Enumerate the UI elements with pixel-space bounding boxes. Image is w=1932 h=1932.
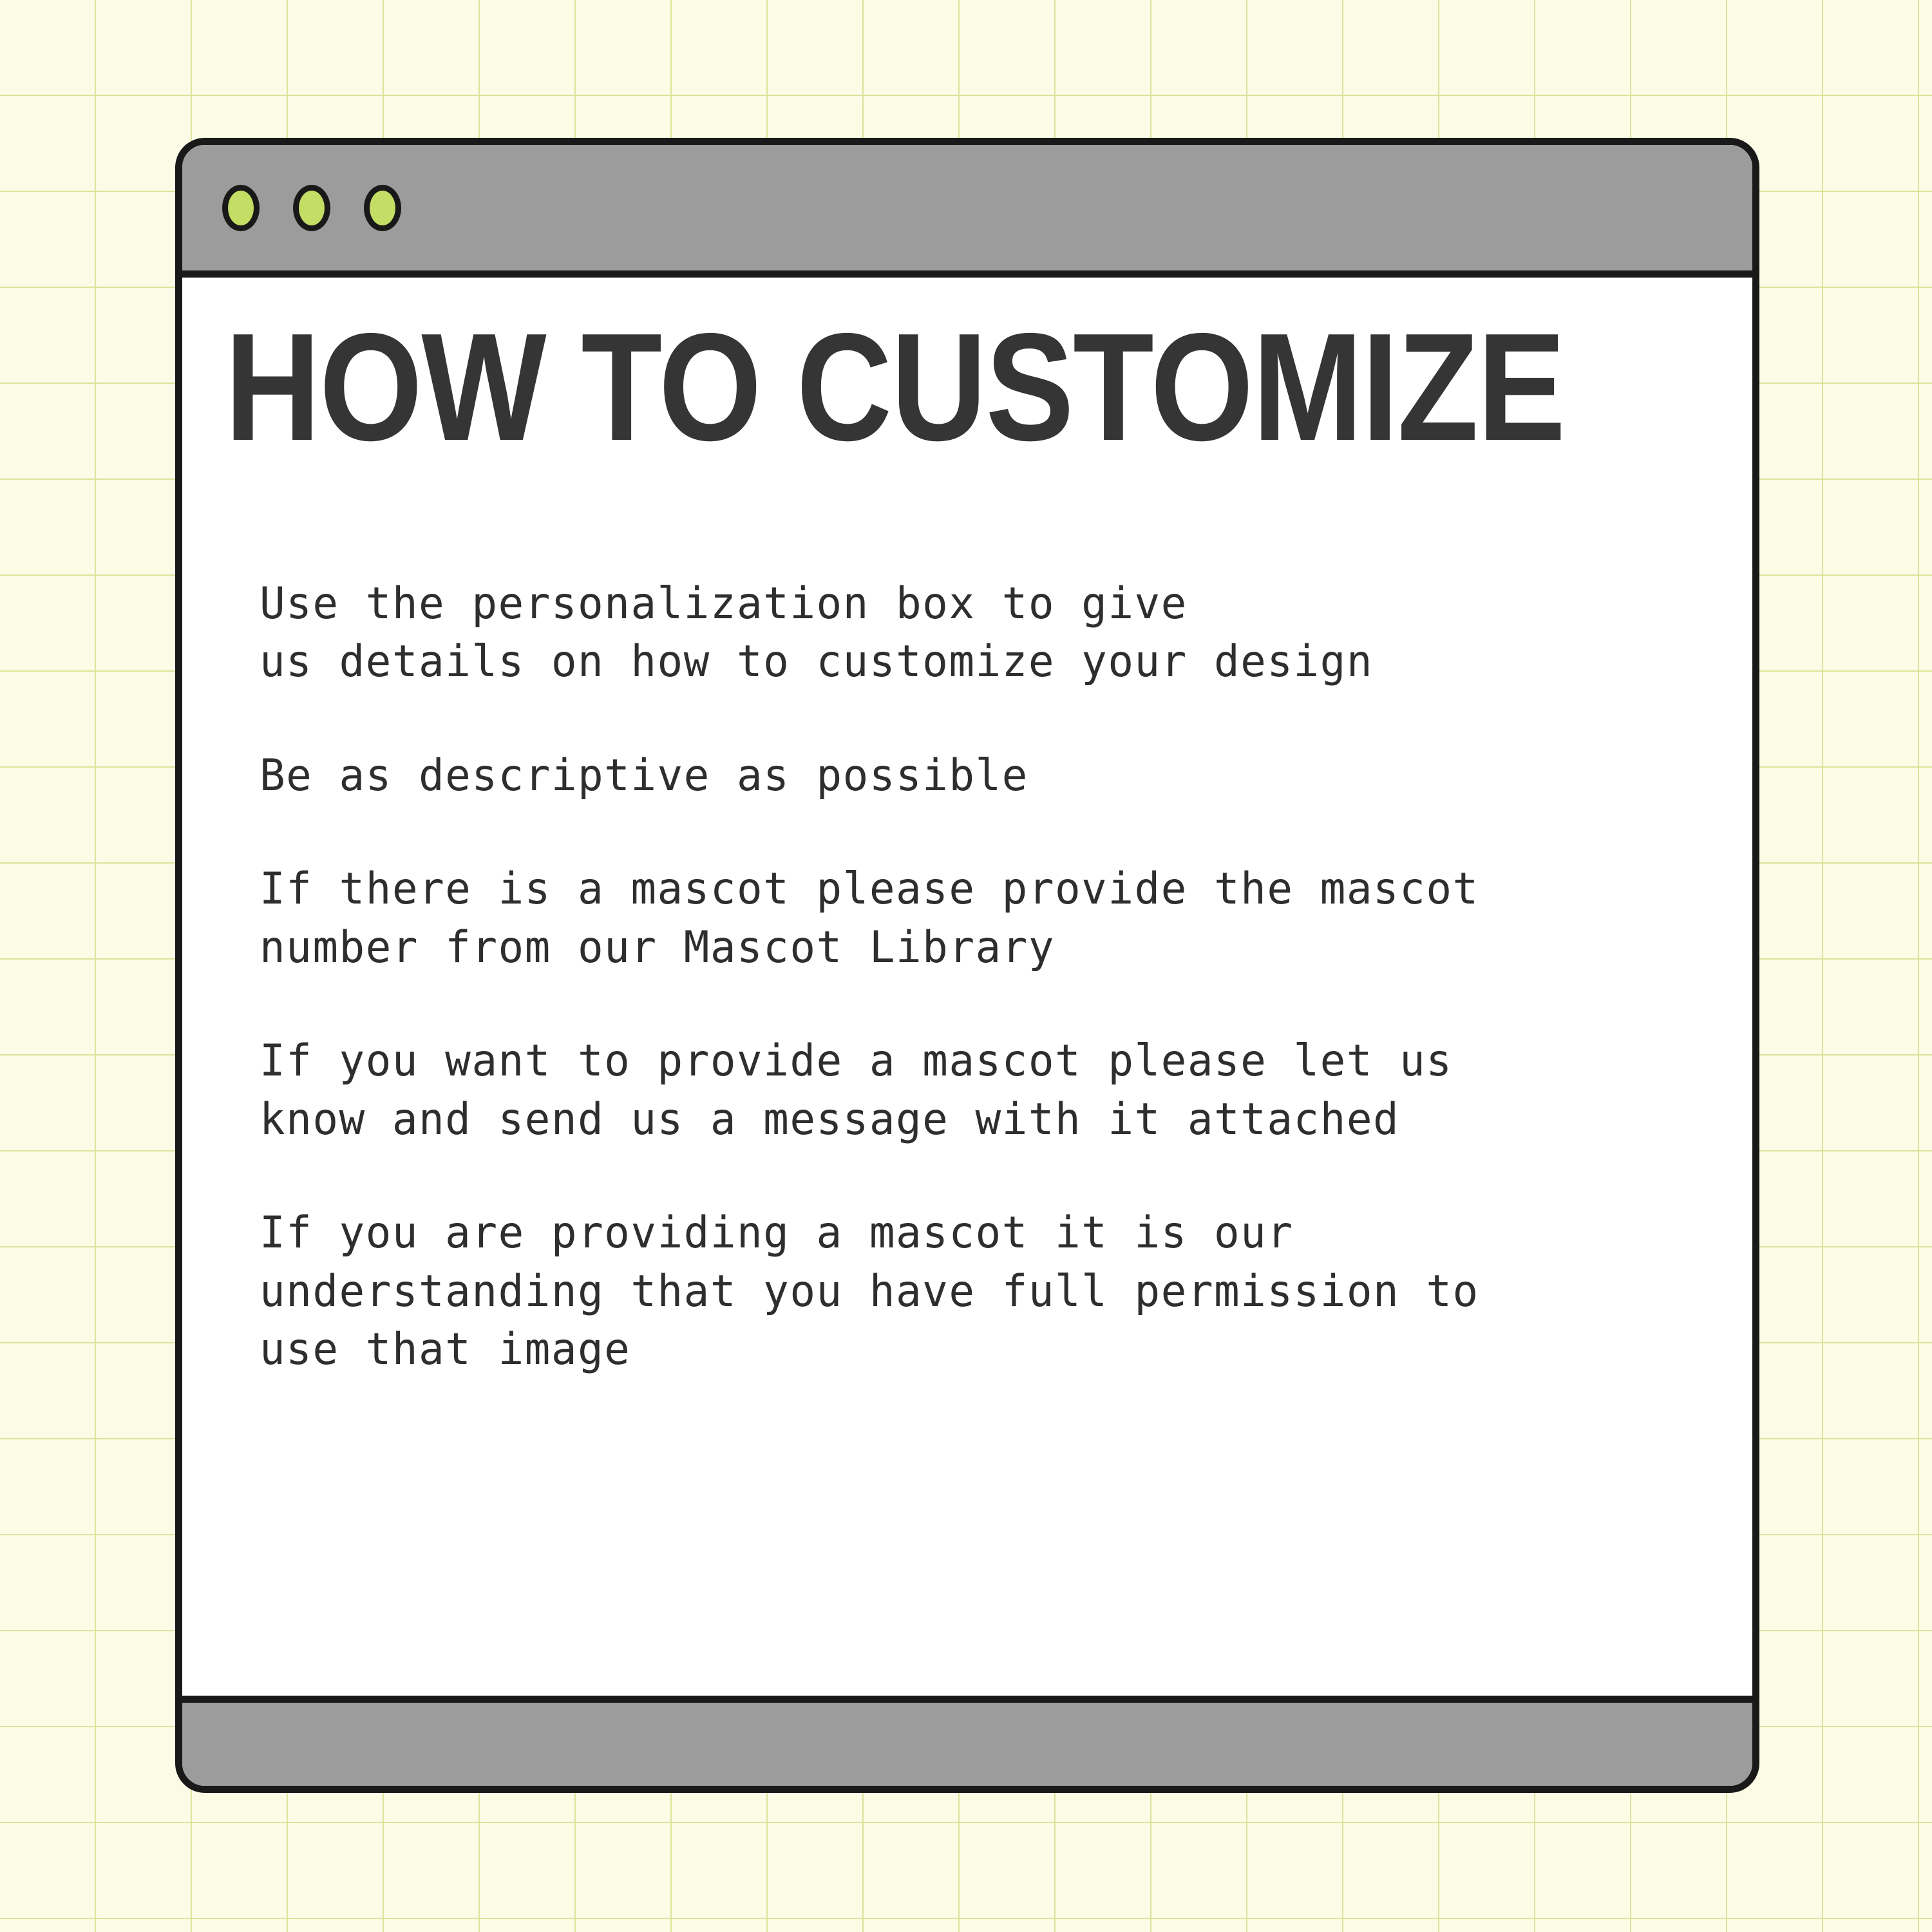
- instructions-list: Use the personalization box to give us d…: [260, 575, 1715, 1379]
- instruction-paragraph-4: If you want to provide a mascot please l…: [260, 1032, 1671, 1149]
- window-content: HOW TO CUSTOMIZE Use the personalization…: [182, 278, 1752, 1696]
- browser-window: HOW TO CUSTOMIZE Use the personalization…: [175, 138, 1759, 1793]
- window-button-close[interactable]: [222, 185, 260, 231]
- window-statusbar: [182, 1696, 1752, 1786]
- window-titlebar: [182, 145, 1752, 278]
- instruction-paragraph-2: Be as descriptive as possible: [260, 747, 1671, 805]
- poster-canvas: HOW TO CUSTOMIZE Use the personalization…: [0, 0, 1932, 1932]
- instruction-paragraph-3: If there is a mascot please provide the …: [260, 860, 1671, 977]
- instruction-paragraph-1: Use the personalization box to give us d…: [260, 575, 1671, 692]
- instruction-paragraph-5: If you are providing a mascot it is our …: [260, 1204, 1671, 1379]
- page-title: HOW TO CUSTOMIZE: [225, 315, 1506, 460]
- window-button-maximize[interactable]: [364, 185, 401, 231]
- window-button-minimize[interactable]: [293, 185, 330, 231]
